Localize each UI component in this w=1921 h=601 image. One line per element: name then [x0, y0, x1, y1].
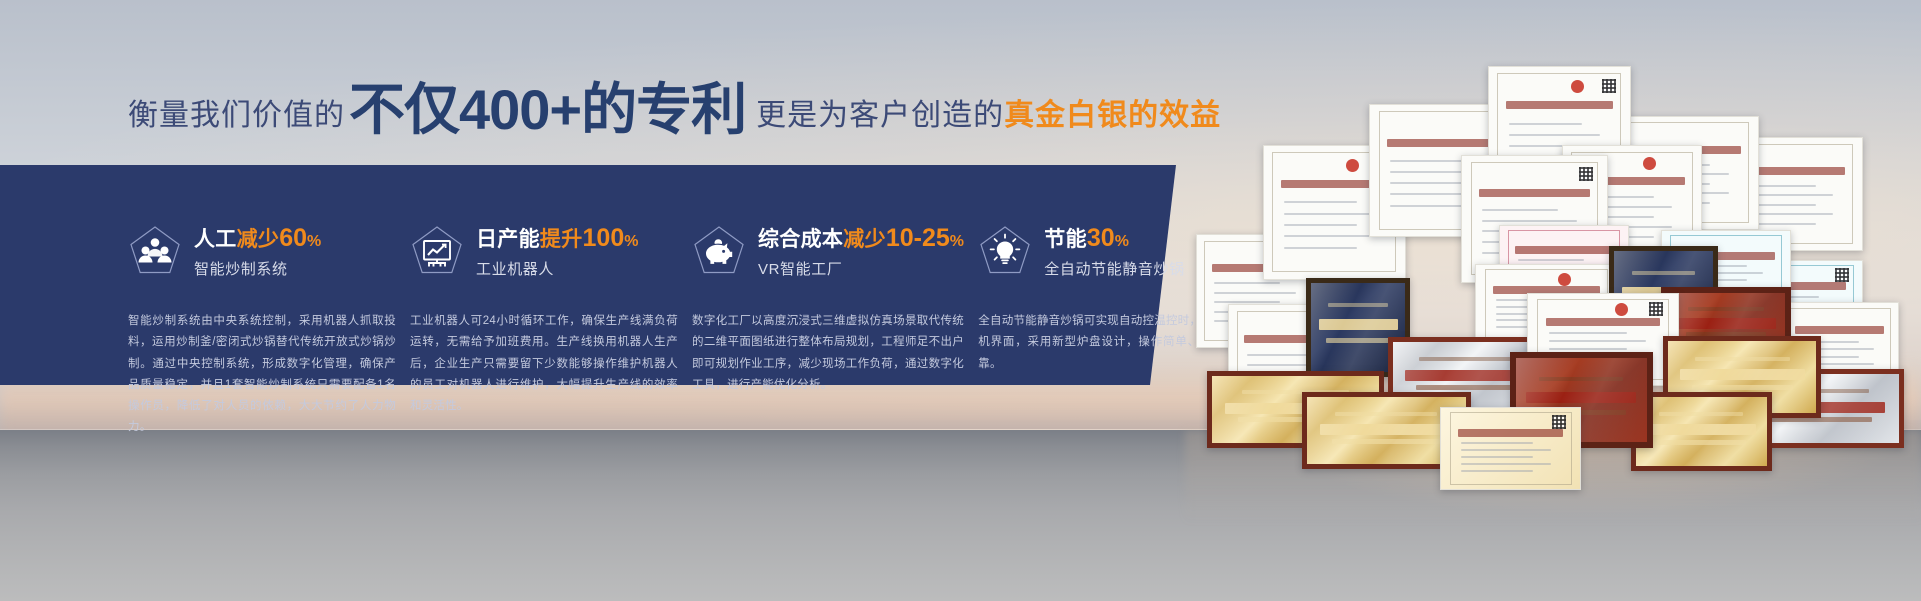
feature-description: 数字化工厂以高度沉浸式三维虚拟仿真场景取代传统的二维平面图纸进行整体布局规划，工… — [692, 311, 964, 396]
certificate-text-line — [1509, 123, 1582, 125]
feature-item-cost: 综合成本减少10-25% VR智能工厂 数字化工厂以高度沉浸式三维虚拟仿真场景取… — [692, 165, 978, 385]
feature-title-number: 10-25 — [886, 224, 950, 252]
feature-title-percent: % — [624, 233, 639, 250]
lightbulb-icon — [978, 224, 1032, 278]
plaque-subtitle-bar — [1657, 440, 1746, 445]
feature-title-plain: 综合成本 — [758, 228, 843, 251]
plaque-caption — [1539, 377, 1623, 381]
certificate-text-line — [1214, 301, 1279, 303]
certificate-text-line — [1284, 247, 1357, 249]
feature-description: 工业机器人可24小时循环工作，确保生产线满负荷运转，无需给予加班费用。生产线换用… — [410, 311, 678, 417]
features-row: 人工减少60% 智能炒制系统 智能炒制系统由中央系统控制，采用机器人抓取投料，运… — [0, 165, 1150, 385]
feature-title-block: 人工减少60% 智能炒制系统 — [194, 224, 322, 279]
plaque-title-bar — [1405, 370, 1526, 381]
headline-accent: 真金白银的效益 — [1004, 90, 1221, 134]
feature-title-percent: % — [1115, 233, 1130, 250]
feature-item-labor: 人工减少60% 智能炒制系统 智能炒制系统由中央系统控制，采用机器人抓取投料，运… — [128, 165, 410, 385]
feature-title-accent: 减少 — [843, 228, 886, 251]
certificate-text-line — [1214, 282, 1279, 284]
feature-title: 人工减少60% — [194, 224, 322, 252]
certificate-text-line — [1461, 442, 1533, 444]
plaque-caption — [1695, 357, 1790, 361]
page-title: 衡量我们价值的 不仅400+的专利 更是为客户创造的 真金白银的效益 — [128, 78, 1221, 138]
certificate-text-line — [1214, 292, 1296, 294]
certificate-text-line — [1549, 340, 1646, 342]
plaque-subtitle-bar — [1332, 439, 1440, 444]
certificate-text-line — [1549, 332, 1627, 334]
certificate-text-line — [1247, 354, 1312, 356]
certificate-qr-code — [1602, 79, 1616, 93]
feature-title-plain: 人工 — [194, 228, 237, 251]
plaque-caption — [1632, 271, 1695, 275]
feature-subtitle: 全自动节能静音炒锅 — [1044, 258, 1184, 279]
certificate-text-line — [1461, 470, 1533, 472]
plaque-caption — [1688, 307, 1763, 311]
headline-middle: 更是为客户创造的 — [756, 90, 1004, 134]
certificate-qr-code — [1579, 167, 1593, 181]
certificate-title-bar — [1546, 318, 1660, 326]
certificate-text-line — [1482, 220, 1576, 222]
feature-title-block: 节能30% 全自动节能静音炒锅 — [1044, 224, 1184, 279]
plaque-subtitle-bar — [1692, 385, 1793, 390]
feature-subtitle: 智能炒制系统 — [194, 258, 322, 279]
certificate-title-bar — [1506, 101, 1613, 109]
feature-title-accent: 提升 — [540, 228, 583, 251]
feature-title-plain: 节能 — [1044, 228, 1087, 251]
feature-title-percent: % — [950, 233, 965, 250]
feature-title: 日产能提升100% — [476, 224, 639, 252]
certificate-text-line — [1509, 134, 1601, 136]
feature-description: 智能炒制系统由中央系统控制，采用机器人抓取投料，运用炒制釜/密闭式炒锅替代传统开… — [128, 311, 396, 439]
certificate-text-line — [1390, 160, 1465, 162]
certificate-text-line — [1284, 224, 1357, 226]
plaque-title-bar — [1677, 318, 1776, 329]
feature-title-plain: 日产能 — [476, 228, 540, 251]
feature-title-percent: % — [307, 233, 322, 250]
certificate-text-line — [1284, 213, 1376, 215]
feature-title: 节能30% — [1044, 224, 1184, 252]
plaque-caption — [1328, 303, 1388, 307]
plaque-title-bar — [1680, 369, 1804, 380]
chart-board-icon — [410, 224, 464, 278]
certificate-seal — [1615, 303, 1628, 316]
people-group-icon — [128, 224, 182, 278]
certificate-text-line — [1390, 182, 1465, 184]
certificate-text-line — [1549, 348, 1627, 350]
certificate-and-award-wall — [1185, 52, 1921, 492]
certificate-qr-code — [1552, 415, 1566, 429]
certificate-item — [1440, 407, 1581, 490]
headline-emphasis: 不仅400+的专利 — [349, 82, 746, 138]
certificate-text-line — [1390, 205, 1465, 207]
certificate-text-line — [1482, 209, 1557, 211]
feature-title: 综合成本减少10-25% — [758, 224, 964, 252]
certificate-title-bar — [1515, 246, 1612, 254]
promo-banner: 衡量我们价值的 不仅400+的专利 更是为客户创造的 真金白银的效益 — [0, 0, 1921, 601]
certificate-text-line — [1518, 259, 1584, 261]
certificate-seal — [1571, 80, 1584, 93]
certificate-title-bar — [1795, 326, 1884, 334]
feature-subtitle: 工业机器人 — [476, 258, 639, 279]
feature-title-number: 100 — [583, 224, 625, 252]
plaque-subtitle-bar — [1416, 385, 1514, 390]
certificate-text-line — [1461, 449, 1551, 451]
plaque-caption — [1335, 412, 1437, 416]
feature-title-number: 30 — [1087, 224, 1115, 252]
piggy-bank-icon — [692, 224, 746, 278]
feature-header: 综合成本减少10-25% VR智能工厂 — [692, 165, 964, 293]
feature-title-accent: 减少 — [237, 228, 280, 251]
certificate-title-bar — [1479, 189, 1589, 197]
certificate-title-bar — [1458, 429, 1563, 437]
feature-header: 日产能提升100% 工业机器人 — [410, 165, 678, 293]
certificate-text-line — [1461, 463, 1551, 465]
plaque-caption — [1419, 357, 1511, 361]
feature-title-block: 综合成本减少10-25% VR智能工厂 — [758, 224, 964, 279]
certificate-face — [1440, 407, 1581, 490]
plaque-caption — [1659, 412, 1743, 416]
certificate-text-line — [1461, 456, 1533, 458]
headline-lead: 衡量我们价值的 — [128, 90, 345, 134]
feature-item-capacity: 日产能提升100% 工业机器人 工业机器人可24小时循环工作，确保生产线满负荷运… — [410, 165, 692, 385]
feature-title-number: 60 — [279, 224, 307, 252]
feature-title-block: 日产能提升100% 工业机器人 — [476, 224, 639, 279]
certificate-qr-code — [1649, 302, 1663, 316]
certificate-seal — [1346, 159, 1359, 172]
feature-subtitle: VR智能工厂 — [758, 258, 964, 279]
certificate-title-bar — [1387, 139, 1497, 147]
plaque-title-bar — [1646, 424, 1756, 435]
plaque-subtitle-bar — [1326, 338, 1390, 343]
plaque-title-bar — [1526, 392, 1636, 403]
feature-header: 人工减少60% 智能炒制系统 — [128, 165, 396, 293]
plaque-title-bar — [1319, 319, 1398, 330]
certificate-qr-code — [1835, 268, 1849, 282]
plaque-title-bar — [1320, 424, 1453, 435]
